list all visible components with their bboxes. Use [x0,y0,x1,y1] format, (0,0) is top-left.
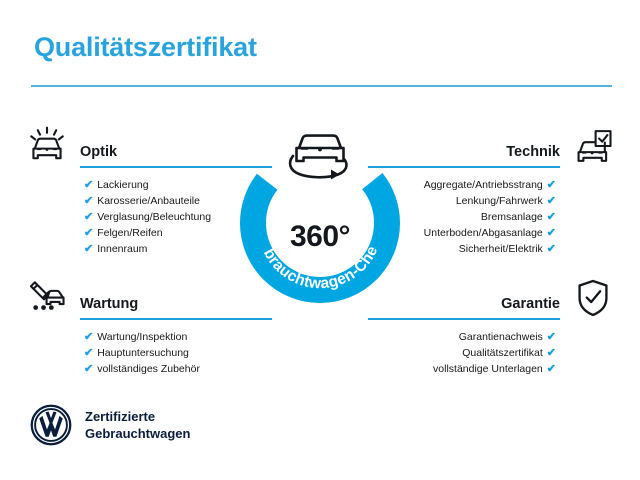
check-icon: ✔ [84,179,93,191]
list-item-label: Hauptuntersuchung [97,347,189,359]
check-icon: ✔ [84,195,93,207]
list-item-label: Lenkung/Fahrwerk [456,195,543,207]
list-item-label: Felgen/Reifen [97,227,162,239]
certificate-page: Qualitätszertifikat [0,0,640,480]
check-icon: ✔ [547,195,556,207]
list-item-label: Karosserie/Anbauteile [97,195,200,207]
check-icon: ✔ [547,227,556,239]
title-divider [31,85,612,87]
list-item: vollständige Unterlagen✔ [368,361,556,377]
check-icon: ✔ [547,179,556,191]
footer-brand: Zertifizierte Gebrauchtwagen [30,404,190,446]
list-item-label: Lackierung [97,179,148,191]
section-garantie-underline [368,318,560,320]
list-item-label: Unterboden/Abgasanlage [424,227,543,239]
section-wartung-list: ✔Wartung/Inspektion ✔Hauptuntersuchung ✔… [22,329,272,377]
list-item-label: Wartung/Inspektion [97,331,187,343]
list-item-label: Qualitätszertifikat [462,347,543,359]
list-item-label: Innenraum [97,243,147,255]
section-garantie-list: Garantienachweis✔ Qualitätszertifikat✔ v… [368,329,618,377]
check-icon: ✔ [547,211,556,223]
check-icon: ✔ [547,331,556,343]
car-checkbox-icon [568,124,618,168]
car-front-shine-icon [22,124,72,168]
shield-check-icon [568,276,618,320]
list-item-label: Verglasung/Beleuchtung [97,211,211,223]
wrench-car-service-icon [22,276,72,320]
list-item-label: vollständige Unterlagen [433,363,543,375]
check-icon: ✔ [84,347,93,359]
check-icon: ✔ [84,331,93,343]
badge-360-gebrauchtwagen-check: Gebrauchtwagen-Check 360° [231,120,409,306]
check-icon: ✔ [84,243,93,255]
page-title: Qualitätszertifikat [34,34,257,61]
check-icon: ✔ [84,363,93,375]
list-item: Garantienachweis✔ [368,329,556,345]
footer-brand-text: Zertifizierte Gebrauchtwagen [85,408,190,442]
list-item-label: Aggregate/Antriebsstrang [424,179,543,191]
section-wartung-underline [80,318,272,320]
badge-center-label: 360° [231,220,409,254]
check-icon: ✔ [84,227,93,239]
check-icon: ✔ [547,243,556,255]
list-item: ✔vollständiges Zubehör [84,361,272,377]
check-icon: ✔ [547,347,556,359]
volkswagen-logo [30,404,72,446]
list-item-label: Sicherheit/Elektrik [459,243,543,255]
list-item: Qualitätszertifikat✔ [368,345,556,361]
check-icon: ✔ [84,211,93,223]
check-icon: ✔ [547,363,556,375]
list-item-label: Bremsanlage [481,211,543,223]
list-item-label: Garantienachweis [459,331,543,343]
list-item-label: vollständiges Zubehör [97,363,200,375]
list-item: ✔Hauptuntersuchung [84,345,272,361]
list-item: ✔Wartung/Inspektion [84,329,272,345]
